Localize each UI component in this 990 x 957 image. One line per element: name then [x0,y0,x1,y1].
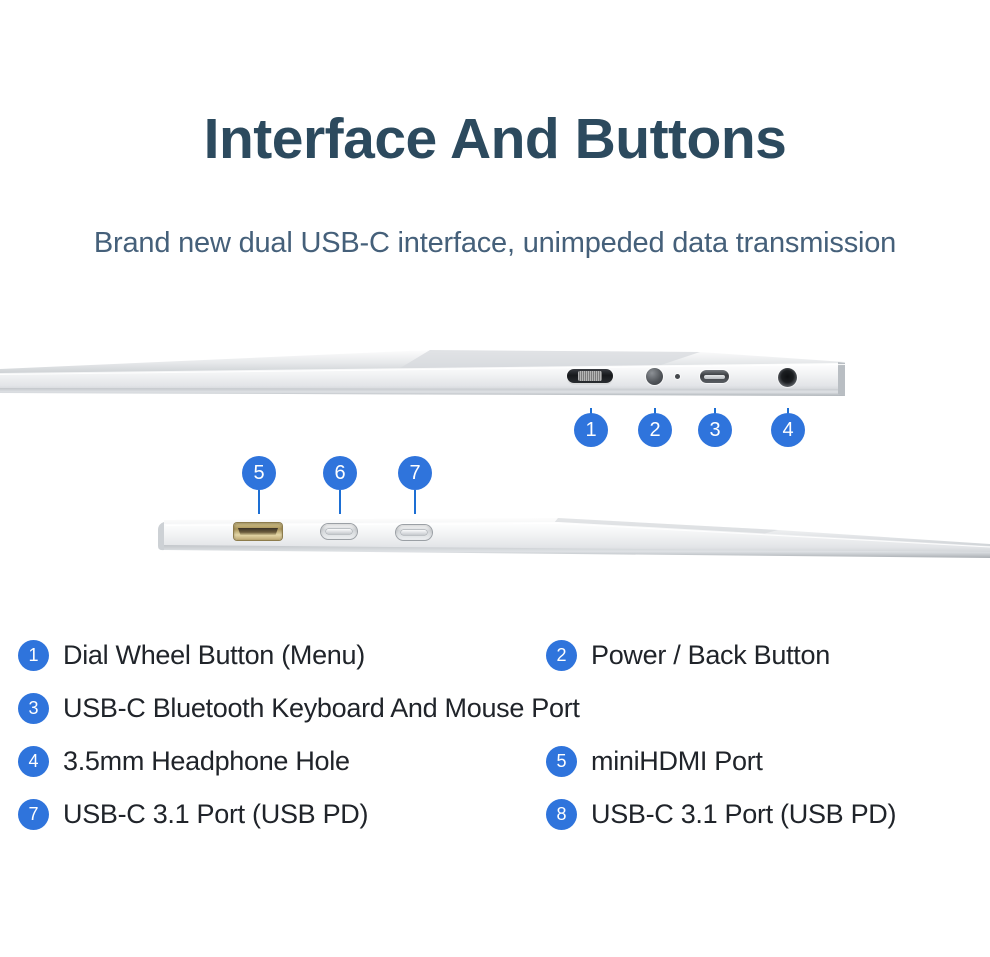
legend-badge-1: 1 [18,640,49,671]
legend-badge-2: 2 [546,640,577,671]
legend-label-4: 3.5mm Headphone Hole [63,746,350,777]
legend-row: 1 Dial Wheel Button (Menu) 2 Power / Bac… [18,640,972,671]
device-illustration: 1 2 3 4 5 6 7 [0,330,990,600]
usb-c-tongue [401,530,427,535]
leader-line-5 [258,490,260,514]
usb-c-port-icon[interactable] [396,525,432,540]
leader-line-7 [414,490,416,514]
legend-label-8: USB-C 3.1 Port (USB PD) [591,799,896,830]
dial-wheel-ribs [578,371,602,381]
legend-badge-7: 7 [18,799,49,830]
infographic-page: Interface And Buttons Brand new dual USB… [0,0,990,957]
usb-c-tongue [704,375,725,379]
legend-item-7[interactable]: 7 USB-C 3.1 Port (USB PD) [18,799,546,830]
leader-line-6 [339,490,341,514]
usb-c-tongue [326,529,352,534]
minihdmi-slot [238,528,278,535]
callout-badge-4[interactable]: 4 [771,413,805,447]
headphone-jack-icon[interactable] [778,368,797,387]
page-subtitle: Brand new dual USB-C interface, unimpede… [0,226,990,261]
legend-item-3[interactable]: 3 USB-C Bluetooth Keyboard And Mouse Por… [18,693,972,724]
power-button-icon[interactable] [646,368,663,385]
device-bottom-edge [158,506,990,568]
legend-badge-4: 4 [18,746,49,777]
legend-row: 7 USB-C 3.1 Port (USB PD) 8 USB-C 3.1 Po… [18,799,972,830]
legend-row: 3 USB-C Bluetooth Keyboard And Mouse Por… [18,693,972,724]
legend-label-3: USB-C Bluetooth Keyboard And Mouse Port [63,693,580,724]
minihdmi-port-icon[interactable] [234,523,282,540]
legend-badge-8: 8 [546,799,577,830]
legend-label-7: USB-C 3.1 Port (USB PD) [63,799,368,830]
callout-badge-7[interactable]: 7 [398,456,432,490]
device-top-edge [0,342,848,408]
page-title: Interface And Buttons [0,108,990,171]
usb-c-port-icon[interactable] [700,370,729,383]
legend-item-2[interactable]: 2 Power / Back Button [546,640,972,671]
legend-item-8[interactable]: 8 USB-C 3.1 Port (USB PD) [546,799,972,830]
legend-label-2: Power / Back Button [591,640,830,671]
legend-item-1[interactable]: 1 Dial Wheel Button (Menu) [18,640,546,671]
device-bottom-edge-body [158,506,990,568]
legend-item-4[interactable]: 4 3.5mm Headphone Hole [18,746,546,777]
callout-badge-2[interactable]: 2 [638,413,672,447]
legend-item-5[interactable]: 5 miniHDMI Port [546,746,972,777]
callout-badge-6[interactable]: 6 [323,456,357,490]
usb-c-port-icon[interactable] [321,524,357,539]
legend-row: 4 3.5mm Headphone Hole 5 miniHDMI Port [18,746,972,777]
legend-list: 1 Dial Wheel Button (Menu) 2 Power / Bac… [18,640,972,852]
pinhole-icon [675,374,680,379]
callout-badge-5[interactable]: 5 [242,456,276,490]
legend-badge-3: 3 [18,693,49,724]
legend-label-5: miniHDMI Port [591,746,763,777]
legend-label-1: Dial Wheel Button (Menu) [63,640,365,671]
dial-wheel-icon[interactable] [567,369,613,383]
legend-badge-5: 5 [546,746,577,777]
callout-badge-3[interactable]: 3 [698,413,732,447]
callout-badge-1[interactable]: 1 [574,413,608,447]
